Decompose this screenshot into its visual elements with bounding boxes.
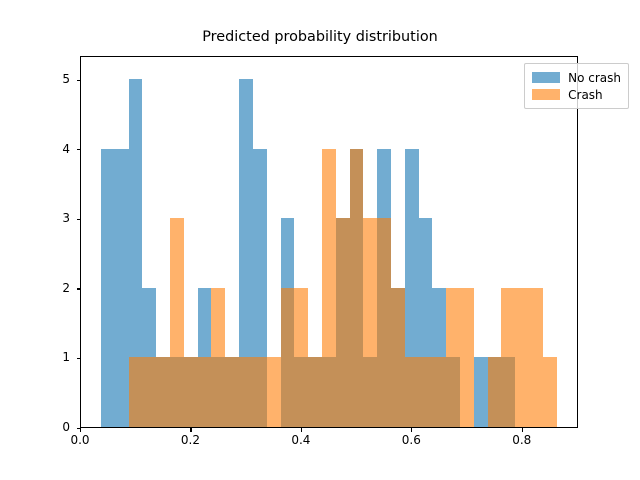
- histogram-bar-overlap: [239, 357, 253, 427]
- y-axis-tick: [77, 219, 81, 220]
- histogram-bar-overlap: [391, 288, 405, 427]
- histogram-bar-overlap: [281, 288, 295, 427]
- histogram-bar-crash: [211, 288, 225, 358]
- histogram-bar-overlap: [308, 357, 322, 427]
- histogram-bar-overlap: [322, 357, 336, 427]
- histogram-bar-overlap: [363, 357, 377, 427]
- histogram-bar-crash: [515, 288, 529, 427]
- histogram-bar-overlap: [184, 357, 198, 427]
- y-axis-tick: [77, 358, 81, 359]
- chart-legend: No crash Crash: [524, 63, 629, 109]
- histogram-bar-no-crash: [101, 149, 115, 427]
- legend-label-crash: Crash: [568, 88, 603, 102]
- y-axis-tick-label: 2: [24, 281, 70, 295]
- histogram-bar-overlap: [432, 357, 446, 427]
- y-axis-tick-label: 5: [24, 72, 70, 86]
- x-axis-tick-label: 0.2: [160, 433, 220, 447]
- y-axis-tick: [77, 80, 81, 81]
- histogram-bar-crash: [543, 357, 557, 427]
- histogram-bar-overlap: [377, 218, 391, 427]
- histogram-bar-no-crash: [377, 149, 391, 219]
- legend-swatch-crash: [532, 89, 560, 100]
- histogram-bar-overlap: [142, 357, 156, 427]
- legend-swatch-no-crash: [532, 72, 560, 83]
- x-axis-tick-label: 0.0: [50, 433, 110, 447]
- histogram-bar-overlap: [225, 357, 239, 427]
- histogram-bar-no-crash: [405, 149, 419, 358]
- histogram-bar-overlap: [198, 357, 212, 427]
- legend-label-no-crash: No crash: [568, 71, 621, 85]
- x-axis-tick: [522, 428, 523, 432]
- plot-area: [80, 56, 578, 428]
- histogram-bar-no-crash: [432, 288, 446, 358]
- histogram-bar-no-crash: [198, 288, 212, 358]
- y-axis-tick-label: 4: [24, 142, 70, 156]
- chart-title: Predicted probability distribution: [0, 29, 640, 45]
- histogram-bar-overlap: [405, 357, 419, 427]
- histogram-bar-overlap: [446, 357, 460, 427]
- histogram-bar-no-crash: [142, 288, 156, 358]
- histogram-bars: [81, 57, 577, 427]
- histogram-bar-overlap: [350, 149, 364, 427]
- x-axis-tick-label: 0.8: [492, 433, 552, 447]
- histogram-bar-no-crash: [419, 218, 433, 357]
- legend-item-no-crash: No crash: [532, 69, 621, 86]
- histogram-bar-overlap: [170, 357, 184, 427]
- x-axis-tick: [411, 428, 412, 432]
- y-axis-tick: [77, 428, 81, 429]
- y-axis-tick: [77, 288, 81, 289]
- x-axis-tick-label: 0.4: [271, 433, 331, 447]
- histogram-bar-crash: [267, 357, 281, 427]
- histogram-bar-no-crash: [129, 79, 143, 357]
- histogram-bar-overlap: [336, 218, 350, 427]
- histogram-bar-overlap: [501, 357, 515, 427]
- histogram-bar-overlap: [156, 357, 170, 427]
- x-axis-tick: [80, 428, 81, 432]
- histogram-bar-crash: [294, 288, 308, 358]
- histogram-bar-overlap: [253, 357, 267, 427]
- histogram-bar-no-crash: [281, 218, 295, 288]
- histogram-bar-crash: [529, 288, 543, 427]
- x-axis-tick: [301, 428, 302, 432]
- histogram-bar-crash: [501, 288, 515, 358]
- y-axis-tick-label: 0: [24, 420, 70, 434]
- histogram-bar-crash: [460, 288, 474, 427]
- histogram-bar-crash: [446, 288, 460, 358]
- histogram-bar-no-crash: [253, 149, 267, 358]
- x-axis-tick: [190, 428, 191, 432]
- histogram-bar-no-crash: [115, 149, 129, 427]
- histogram-bar-overlap: [129, 357, 143, 427]
- histogram-bar-overlap: [211, 357, 225, 427]
- histogram-bar-crash: [363, 218, 377, 357]
- histogram-bar-crash: [170, 218, 184, 357]
- histogram-bar-overlap: [294, 357, 308, 427]
- histogram-bar-crash: [322, 149, 336, 358]
- x-axis-tick-label: 0.6: [381, 433, 441, 447]
- legend-item-crash: Crash: [532, 86, 621, 103]
- histogram-bar-overlap: [488, 357, 502, 427]
- histogram-bar-overlap: [419, 357, 433, 427]
- matplotlib-figure: Predicted probability distribution 0.00.…: [0, 0, 640, 480]
- y-axis-tick-label: 3: [24, 211, 70, 225]
- y-axis-tick-label: 1: [24, 350, 70, 364]
- histogram-bar-no-crash: [474, 357, 488, 427]
- histogram-bar-no-crash: [239, 79, 253, 357]
- y-axis-tick: [77, 149, 81, 150]
